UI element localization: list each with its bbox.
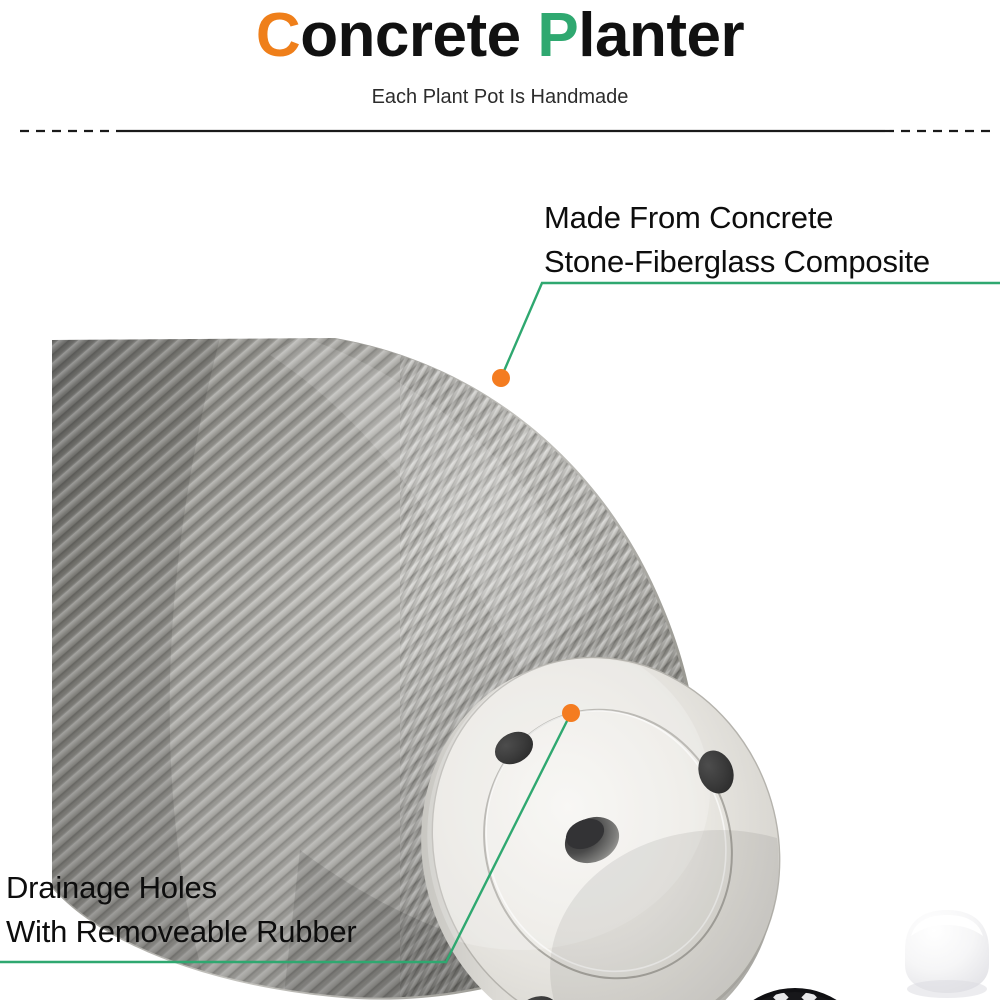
callout-material-line2: Stone-Fiberglass Composite <box>544 240 930 284</box>
title-initial-concrete: C <box>256 1 300 70</box>
infographic-canvas: Concrete Planter Each Plant Pot Is Handm… <box>0 0 1000 1000</box>
page-title: Concrete Planter <box>0 4 1000 68</box>
callout-material-line1: Made From Concrete <box>544 200 833 235</box>
callout-drainage-line1: Drainage Holes <box>6 870 217 905</box>
title-rest-planter: lanter <box>578 1 744 70</box>
page-subtitle: Each Plant Pot Is Handmade <box>0 86 1000 109</box>
callout-drainage: Drainage Holes With Removeable Rubber <box>6 866 357 954</box>
callout-material: Made From Concrete Stone-Fiberglass Comp… <box>544 196 930 284</box>
divider <box>0 128 1000 134</box>
title-initial-planter: P <box>537 1 578 70</box>
title-rest-concrete: oncrete <box>300 1 537 70</box>
removable-rubber-plug <box>905 910 989 998</box>
callout-drainage-line2: With Removeable Rubber <box>6 910 357 954</box>
